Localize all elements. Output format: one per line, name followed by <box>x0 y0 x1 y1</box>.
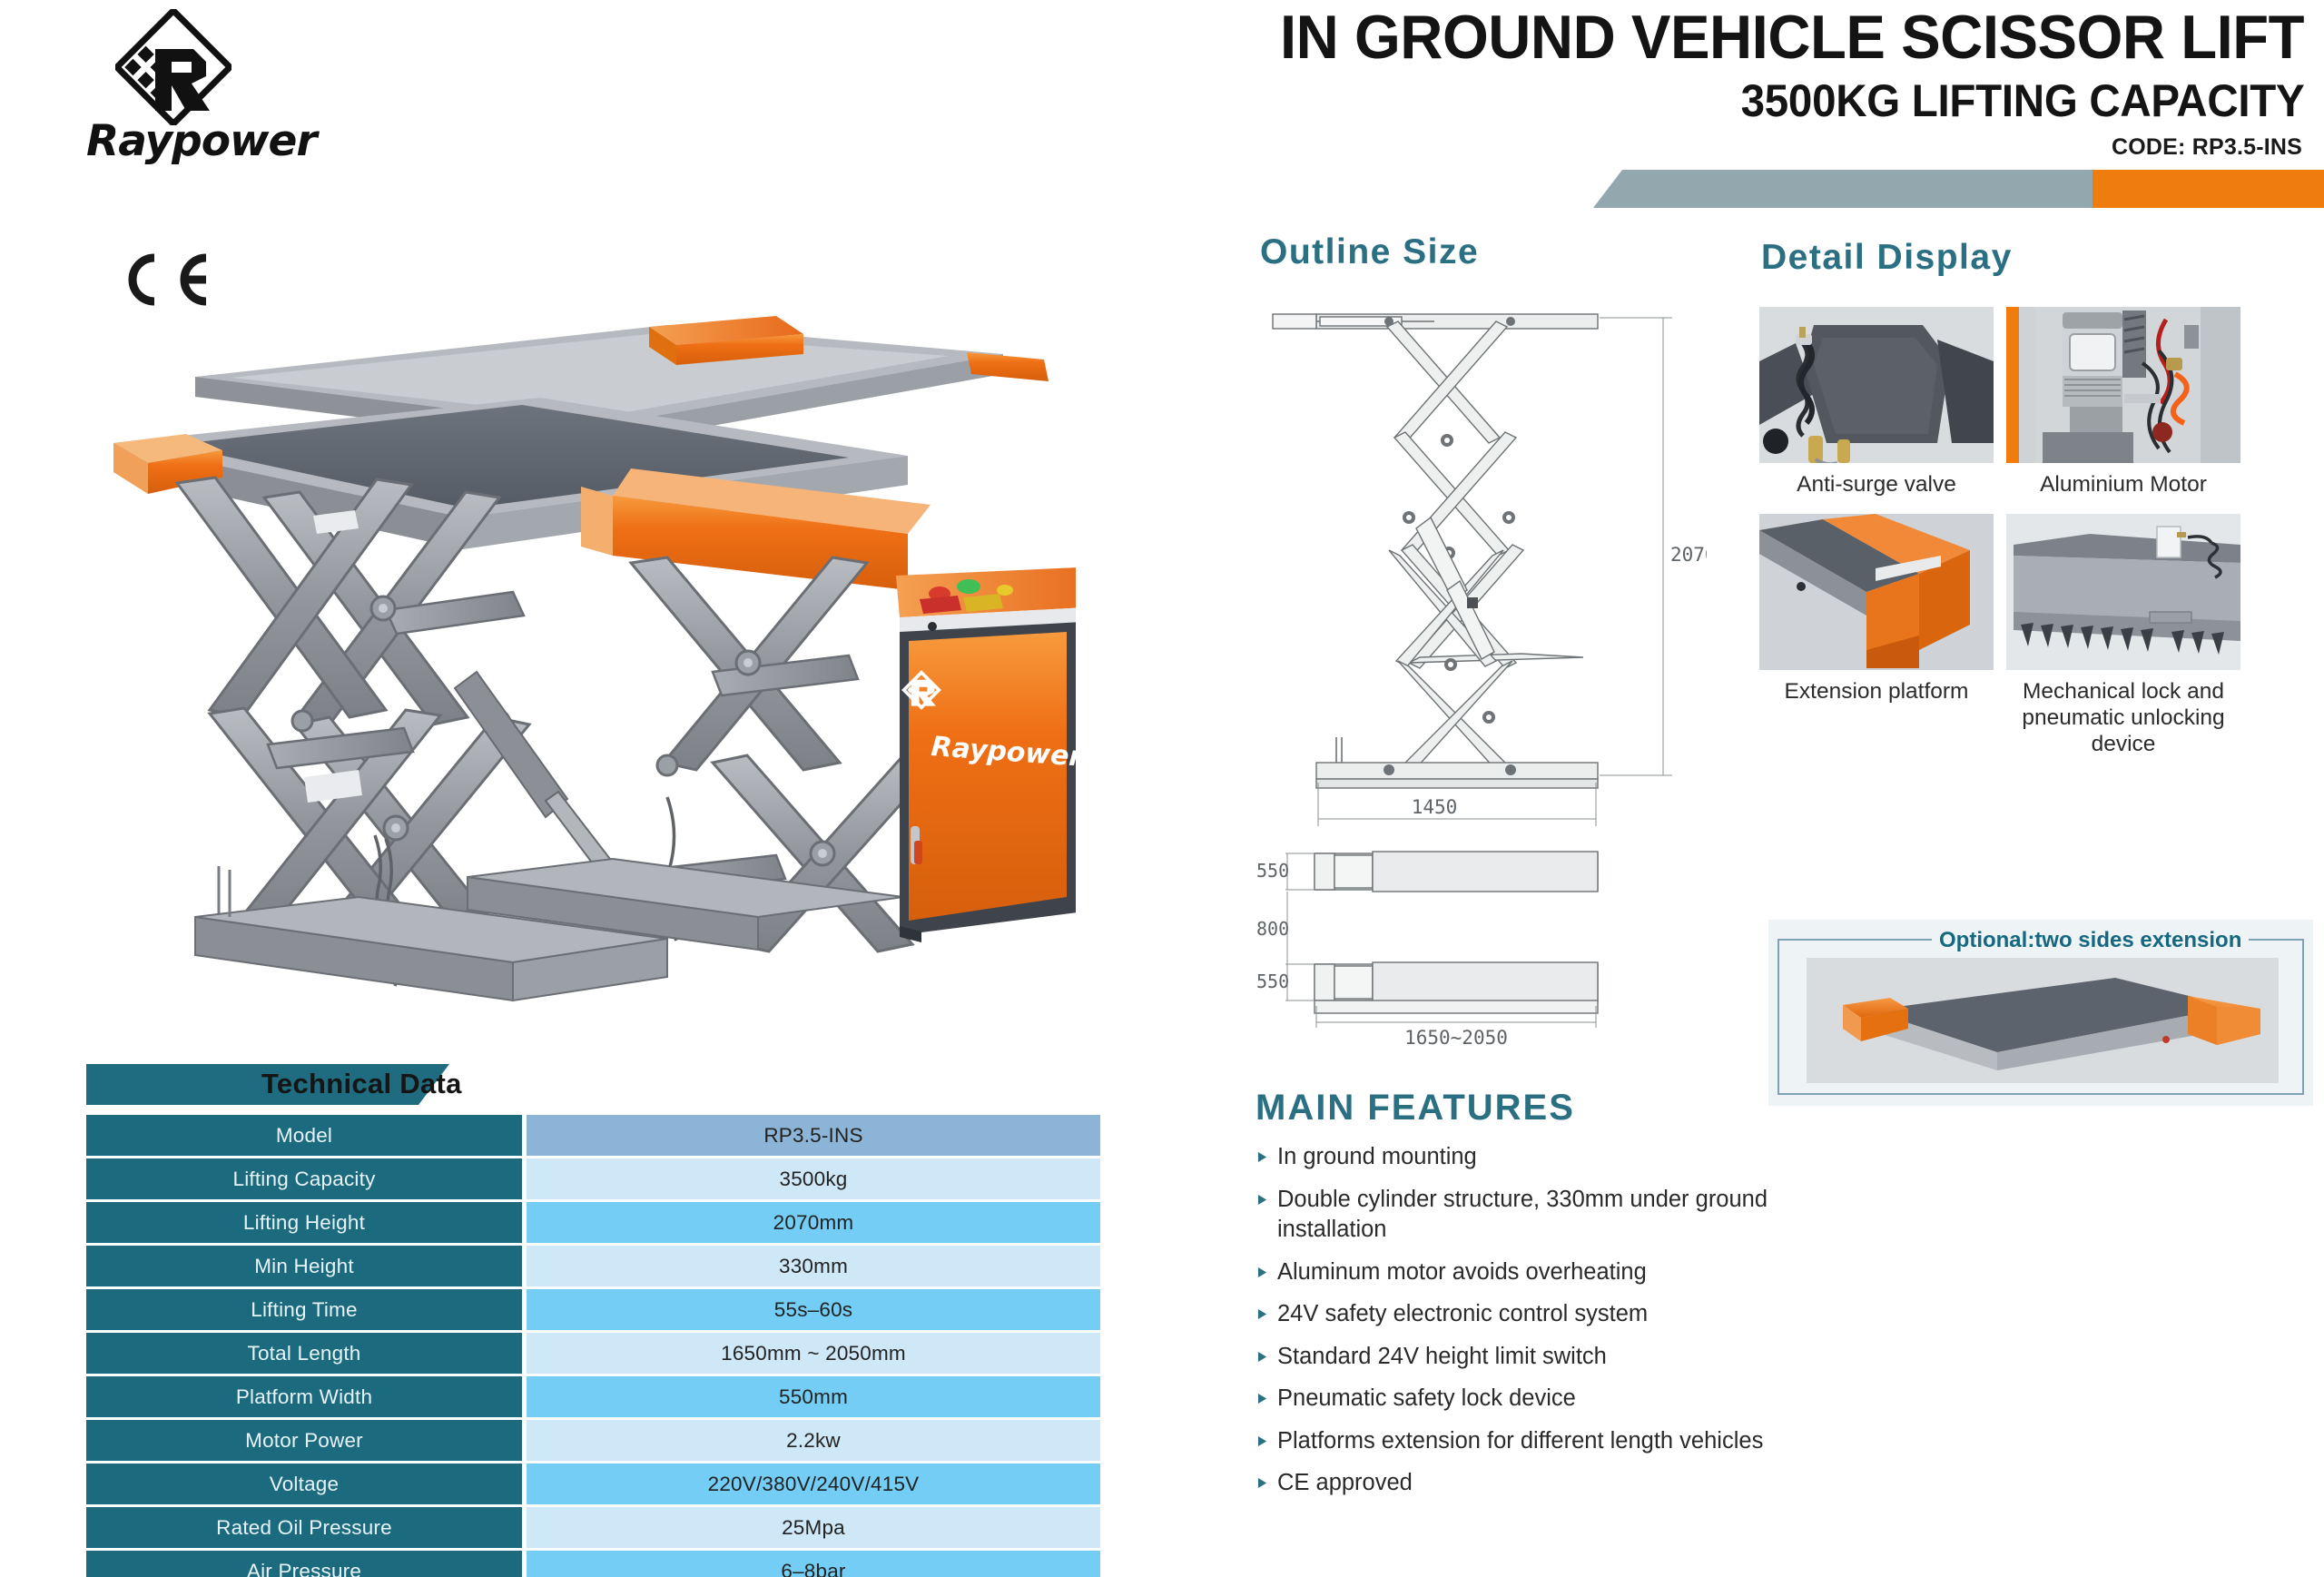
aluminium-motor-photo <box>2006 307 2240 463</box>
raypower-diamond-r-logo-icon <box>115 9 231 125</box>
feature-text: 24V safety electronic control system <box>1277 1299 1648 1330</box>
header-accent-bar-gray <box>1593 170 2094 208</box>
row-value: 2070mm <box>527 1202 1100 1243</box>
feature-item: 24V safety electronic control system <box>1257 1299 1893 1330</box>
row-label: Model <box>86 1115 522 1156</box>
technical-data-heading: Technical Data <box>261 1068 462 1100</box>
table-row: Model RP3.5-INS <box>86 1115 1100 1156</box>
row-label: Lifting Height <box>86 1202 522 1243</box>
outline-size-drawings: 2070 1450 550 8 <box>1253 291 1707 1053</box>
table-row: Air Pressure 6–8bar <box>86 1551 1100 1577</box>
main-features-list: In ground mounting Double cylinder struc… <box>1257 1142 1893 1511</box>
brand-wordmark: Raypower <box>86 116 359 171</box>
detail-caption: Anti-surge valve <box>1759 463 1994 498</box>
page-title: IN GROUND VEHICLE SCISSOR LIFT <box>1280 7 2304 67</box>
feature-item: Pneumatic safety lock device <box>1257 1384 1893 1414</box>
detail-caption: Extension platform <box>1759 670 1994 705</box>
detail-item-anti-surge-valve: Anti-surge valve <box>1759 307 1994 498</box>
bullet-triangle-icon <box>1257 1185 1277 1205</box>
table-row: Total Length 1650mm ~ 2050mm <box>86 1333 1100 1374</box>
extension-platform-photo <box>1759 514 1994 670</box>
dim-platform-width-550-bottom: 550 <box>1256 971 1289 992</box>
dim-height-2070: 2070 <box>1670 544 1707 566</box>
bullet-triangle-icon <box>1257 1342 1277 1362</box>
table-row: Motor Power 2.2kw <box>86 1420 1100 1461</box>
table-row: Rated Oil Pressure 25Mpa <box>86 1507 1100 1548</box>
row-label: Lifting Time <box>86 1289 522 1330</box>
detail-item-aluminium-motor: Aluminium Motor <box>2006 307 2240 498</box>
detail-display-heading: Detail Display <box>1761 238 2013 278</box>
row-value: 330mm <box>527 1246 1100 1286</box>
page-subtitle: 3500KG LIFTING CAPACITY <box>1740 78 2304 123</box>
row-label: Min Height <box>86 1246 522 1286</box>
row-value: 2.2kw <box>527 1420 1100 1461</box>
feature-text: Standard 24V height limit switch <box>1277 1342 1607 1373</box>
feature-text: In ground mounting <box>1277 1142 1477 1173</box>
feature-text: Platforms extension for different length… <box>1277 1426 1763 1457</box>
bullet-triangle-icon <box>1257 1257 1277 1277</box>
optional-extension-label: Optional:two sides extension <box>1932 928 2249 953</box>
row-value: 220V/380V/240V/415V <box>527 1464 1100 1504</box>
feature-item: Aluminum motor avoids overheating <box>1257 1257 1893 1288</box>
two-sides-extension-platform-photo <box>1807 958 2279 1083</box>
row-value: 25Mpa <box>527 1507 1100 1548</box>
dim-platform-width-550-top: 550 <box>1256 860 1289 882</box>
feature-item: Standard 24V height limit switch <box>1257 1342 1893 1373</box>
feature-text: Aluminum motor avoids overheating <box>1277 1257 1647 1288</box>
table-row: Lifting Height 2070mm <box>86 1202 1100 1243</box>
bullet-triangle-icon <box>1257 1142 1277 1162</box>
feature-text: CE approved <box>1277 1468 1413 1499</box>
dim-gap-800: 800 <box>1256 918 1289 940</box>
detail-row-2: Extension platform <box>1759 514 2313 757</box>
bullet-triangle-icon <box>1257 1384 1277 1404</box>
table-row: Lifting Time 55s–60s <box>86 1289 1100 1330</box>
outline-size-heading: Outline Size <box>1260 232 1479 272</box>
table-row: Lifting Capacity 3500kg <box>86 1158 1100 1199</box>
row-value: 6–8bar <box>527 1551 1100 1577</box>
bullet-triangle-icon <box>1257 1299 1277 1319</box>
main-features-heading: MAIN FEATURES <box>1256 1088 1575 1129</box>
mechanical-lock-photo <box>2006 514 2240 670</box>
feature-item: CE approved <box>1257 1468 1893 1499</box>
detail-item-mechanical-lock: Mechanical lock and pneumatic unlocking … <box>2006 514 2240 757</box>
detail-item-extension-platform: Extension platform <box>1759 514 1994 757</box>
datasheet-page: Raypower IN GROUND VEHICLE SCISSOR LIFT … <box>0 0 2324 1577</box>
row-label: Air Pressure <box>86 1551 522 1577</box>
feature-item: Double cylinder structure, 330mm under g… <box>1257 1185 1893 1246</box>
feature-text: Pneumatic safety lock device <box>1277 1384 1576 1414</box>
row-label: Platform Width <box>86 1376 522 1417</box>
row-value: 1650mm ~ 2050mm <box>527 1333 1100 1374</box>
row-value: 550mm <box>527 1376 1100 1417</box>
table-row: Platform Width 550mm <box>86 1376 1100 1417</box>
row-label: Total Length <box>86 1333 522 1374</box>
row-value: 55s–60s <box>527 1289 1100 1330</box>
table-row: Min Height 330mm <box>86 1246 1100 1286</box>
row-value: RP3.5-INS <box>527 1115 1100 1156</box>
detail-display-grid: Anti-surge valve <box>1759 307 2313 757</box>
row-label: Rated Oil Pressure <box>86 1507 522 1548</box>
dim-total-length: 1650~2050 <box>1404 1027 1508 1049</box>
product-hero-photo: Raypower <box>86 291 1076 1026</box>
anti-surge-valve-photo <box>1759 307 1994 463</box>
technical-data-table: Model RP3.5-INS Lifting Capacity 3500kg … <box>86 1115 1100 1577</box>
header-accent-bar-orange <box>2093 170 2324 208</box>
row-label: Voltage <box>86 1464 522 1504</box>
detail-row-1: Anti-surge valve <box>1759 307 2313 498</box>
bullet-triangle-icon <box>1257 1468 1277 1488</box>
detail-caption: Aluminium Motor <box>2006 463 2240 498</box>
table-row: Voltage 220V/380V/240V/415V <box>86 1464 1100 1504</box>
feature-item: In ground mounting <box>1257 1142 1893 1173</box>
detail-caption: Mechanical lock and pneumatic unlocking … <box>2006 670 2240 757</box>
brand-logo: Raypower <box>86 7 386 175</box>
product-code: CODE: RP3.5-INS <box>2112 134 2302 161</box>
bullet-triangle-icon <box>1257 1426 1277 1446</box>
feature-text: Double cylinder structure, 330mm under g… <box>1277 1185 1840 1246</box>
row-label: Motor Power <box>86 1420 522 1461</box>
feature-item: Platforms extension for different length… <box>1257 1426 1893 1457</box>
dim-width-1450: 1450 <box>1412 796 1458 818</box>
row-value: 3500kg <box>527 1158 1100 1199</box>
row-label: Lifting Capacity <box>86 1158 522 1199</box>
